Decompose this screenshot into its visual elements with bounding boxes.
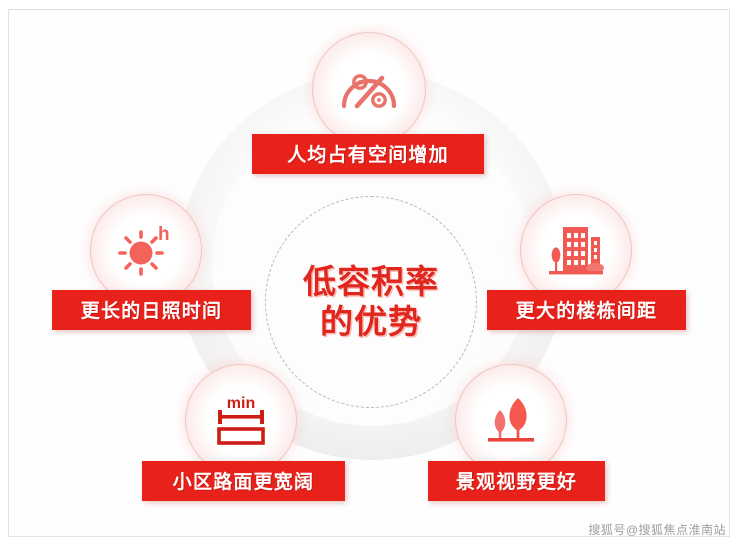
center-title-line2: 的优势	[320, 302, 422, 342]
icon-bubble: min	[185, 364, 297, 476]
trees-landscape-icon	[480, 392, 542, 448]
min-width-road-icon: min	[209, 391, 273, 449]
buildings-spacing-icon	[545, 221, 607, 279]
percent-gauge-icon	[338, 62, 400, 116]
icon-bubble	[455, 364, 567, 476]
center-title-line1: 低容积率	[303, 262, 439, 302]
infographic-canvas: 低容积率 的优势 人均占有空间增加	[0, 0, 740, 547]
node-label[interactable]: 更长的日照时间	[52, 290, 251, 330]
sun-hours-icon: h	[114, 220, 178, 280]
icon-bubble	[312, 32, 426, 146]
node-label[interactable]: 更大的楼栋间距	[487, 290, 686, 330]
node-label[interactable]: 景观视野更好	[428, 461, 605, 501]
min-width-caption: min	[227, 395, 255, 412]
watermark: 搜狐号@搜狐焦点淮南站	[588, 521, 726, 538]
sun-hours-unit: h	[158, 224, 170, 245]
node-label[interactable]: 小区路面更宽阔	[142, 461, 345, 501]
node-label[interactable]: 人均占有空间增加	[252, 134, 484, 174]
center-title: 低容积率 的优势	[265, 196, 477, 408]
